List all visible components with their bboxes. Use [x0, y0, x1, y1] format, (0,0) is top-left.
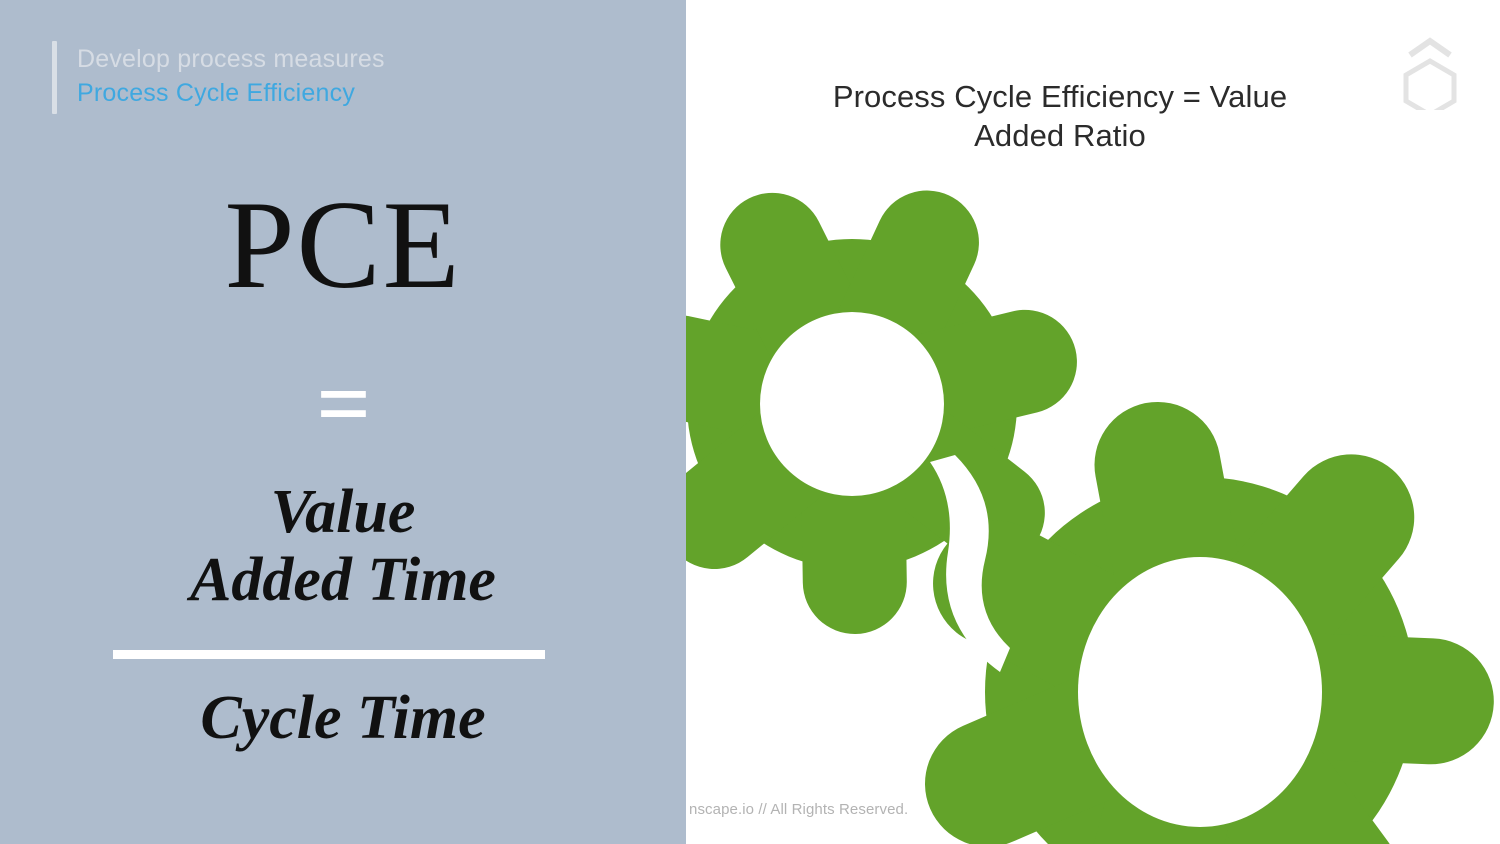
hexagon-logo — [1396, 36, 1464, 110]
slide: Process Cycle Efficiency = Value Added R… — [0, 0, 1500, 844]
footer-copyright: nscape.io // All Rights Reserved. — [689, 801, 908, 818]
content-title-line1: Process Cycle Efficiency = Value — [760, 78, 1360, 117]
formula-denominator: Cycle Time — [0, 684, 686, 752]
formula-numerator-line2: Added Time — [0, 546, 686, 614]
formula-numerator-line1: Value — [0, 478, 686, 546]
formula-block: PCE = Value Added Time Cycle Time — [0, 0, 686, 844]
formula-equals-sign: = — [0, 356, 686, 452]
formula-fraction-bar — [113, 650, 545, 659]
left-panel: Develop process measures Process Cycle E… — [0, 0, 686, 844]
hexagon-logo-icon — [1396, 36, 1464, 110]
content-title-line2: Added Ratio — [760, 117, 1360, 156]
formula-term: PCE — [0, 183, 686, 309]
content-title: Process Cycle Efficiency = Value Added R… — [760, 78, 1360, 156]
formula-numerator: Value Added Time — [0, 478, 686, 614]
